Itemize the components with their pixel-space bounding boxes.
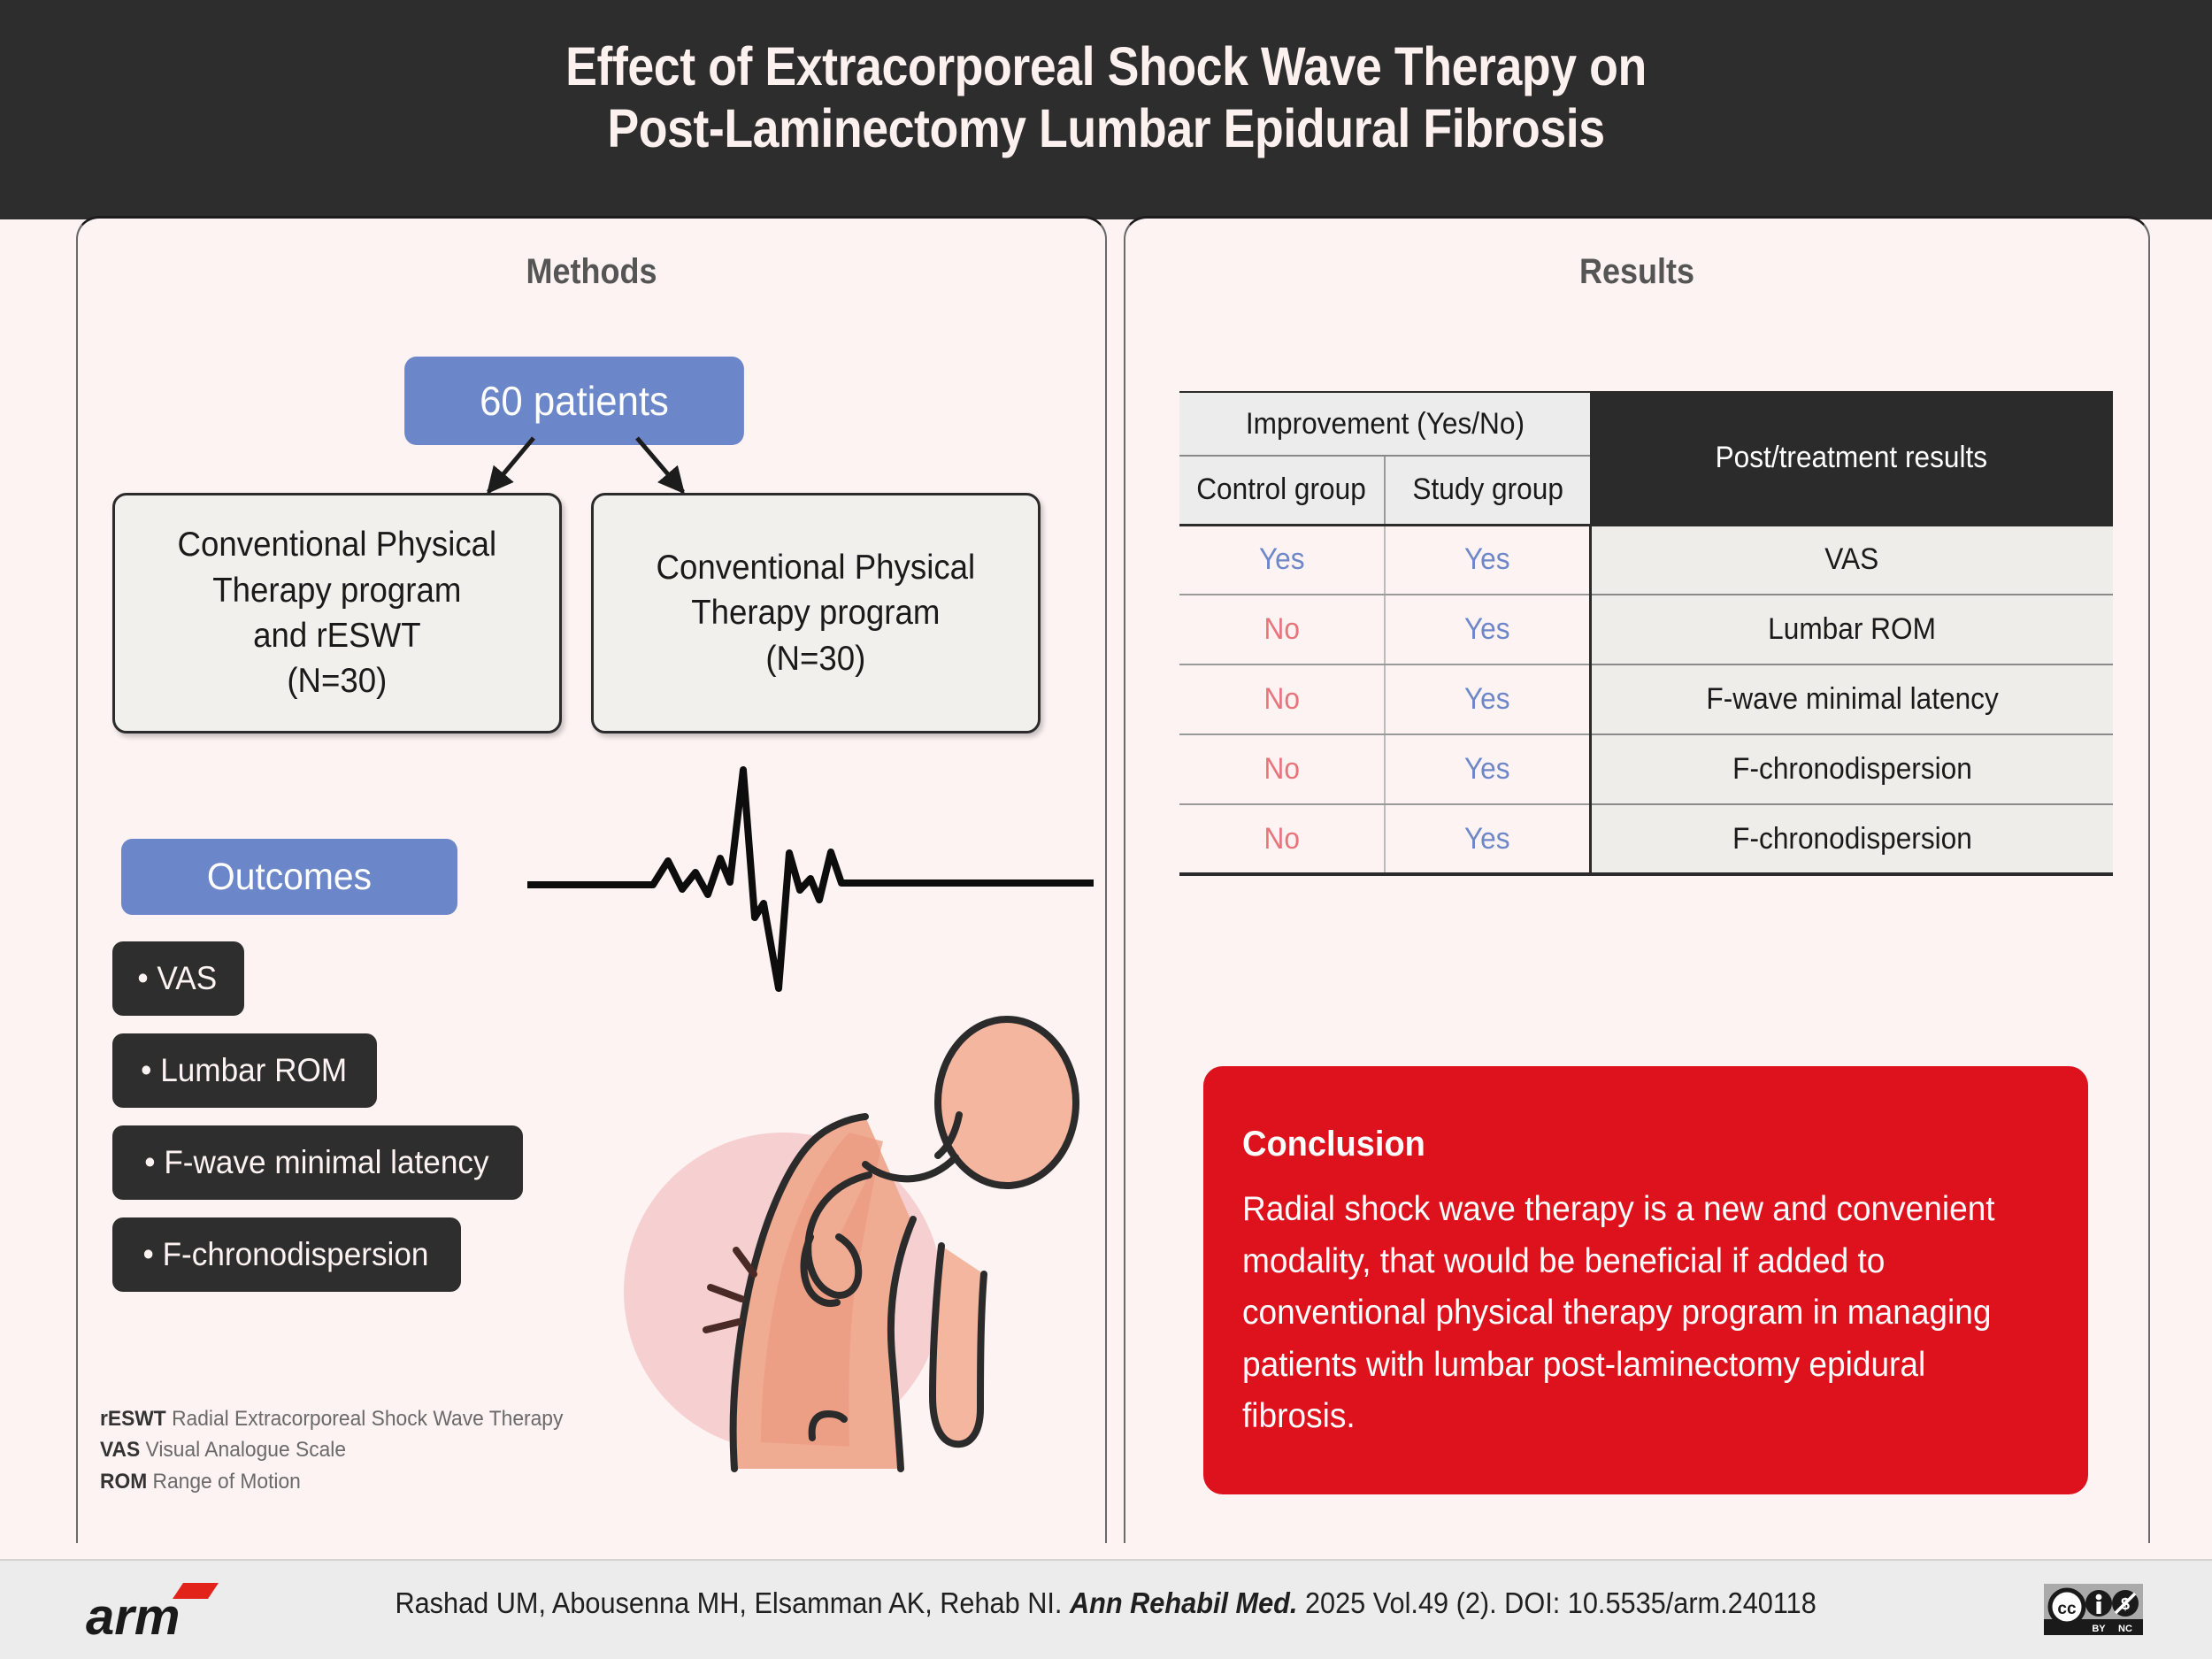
- flow-right-line1: Conventional Physical: [657, 545, 976, 590]
- flow-left-line2: Therapy program: [178, 568, 497, 613]
- flow-node-patients-label: 60 patients: [480, 377, 669, 425]
- outcome-chip-vas: • VAS: [112, 941, 244, 1016]
- outcomes-header: Outcomes: [121, 839, 457, 915]
- cell-label-4: F-chronodispersion: [1590, 804, 2113, 874]
- svg-text:cc: cc: [2057, 1600, 2077, 1618]
- abbr-key-0: rESWT: [100, 1407, 166, 1431]
- svg-text:BY: BY: [2092, 1624, 2106, 1634]
- conclusion-heading: Conclusion: [1242, 1125, 2004, 1164]
- header-control-group: Control group: [1179, 456, 1385, 525]
- flow-node-control-group: Conventional Physical Therapy program (N…: [591, 493, 1041, 733]
- conclusion-box: Conclusion Radial shock wave therapy is …: [1203, 1066, 2088, 1494]
- outcome-chip-vas-label: • VAS: [137, 960, 217, 997]
- outcome-chip-f-chronodispersion-label: • F-chronodispersion: [142, 1236, 428, 1273]
- flow-node-patients: 60 patients: [404, 357, 744, 445]
- cell-control-3: No: [1179, 734, 1385, 804]
- flow-node-study-group: Conventional Physical Therapy program an…: [112, 493, 562, 733]
- conclusion-body: Radial shock wave therapy is a new and c…: [1242, 1184, 2004, 1443]
- title-line-2: Post-Laminectomy Lumbar Epidural Fibrosi…: [133, 97, 2079, 159]
- cell-label-3: F-chronodispersion: [1590, 734, 2113, 804]
- abbr-val-2: Range of Motion: [153, 1470, 301, 1494]
- outcome-chip-lumbar-rom: • Lumbar ROM: [112, 1033, 377, 1108]
- creative-commons-badge-icon: cc BY $ NC: [2044, 1584, 2143, 1635]
- header-post-treatment: Post/treatment results: [1590, 392, 2113, 525]
- abbr-val-0: Radial Extracorporeal Shock Wave Therapy: [172, 1407, 563, 1431]
- header-improvement: Improvement (Yes/No): [1179, 392, 1590, 456]
- flow-left-line3: and rESWT: [178, 613, 497, 658]
- tab-methods-label[interactable]: Methods: [129, 252, 1054, 292]
- citation-rest: 2025 Vol.49 (2). DOI: 10.5535/arm.240118: [1298, 1586, 1816, 1619]
- svg-text:NC: NC: [2118, 1624, 2132, 1634]
- cell-label-2: F-wave minimal latency: [1590, 664, 2113, 734]
- citation-journal: Ann Rehabil Med.: [1070, 1586, 1297, 1619]
- back-pain-person-illustration: [584, 1000, 1150, 1495]
- abbreviations-legend: rESWT Radial Extracorporeal Shock Wave T…: [100, 1403, 588, 1497]
- outcome-chip-f-chronodispersion: • F-chronodispersion: [112, 1217, 461, 1292]
- cell-label-0: VAS: [1590, 525, 2113, 595]
- flow-left-line1: Conventional Physical: [178, 522, 497, 567]
- outcome-chip-f-wave-latency: • F-wave minimal latency: [112, 1125, 523, 1200]
- flow-left-line4: (N=30): [178, 658, 497, 703]
- cell-study-0: Yes: [1385, 525, 1590, 595]
- infographic-root: Effect of Extracorporeal Shock Wave Ther…: [0, 0, 2212, 1659]
- outcome-chip-lumbar-rom-label: • Lumbar ROM: [141, 1052, 347, 1089]
- results-table: Improvement (Yes/No) Post/treatment resu…: [1179, 391, 2113, 876]
- outcomes-header-label: Outcomes: [207, 856, 372, 899]
- shockwave-waveform-icon: [527, 748, 1094, 1022]
- flow-right-line3: (N=30): [657, 636, 976, 681]
- table-row: No Yes F-chronodispersion: [1179, 734, 2113, 804]
- abbr-key-1: VAS: [100, 1438, 140, 1462]
- cell-label-1: Lumbar ROM: [1590, 595, 2113, 664]
- table-row: No Yes Lumbar ROM: [1179, 595, 2113, 664]
- citation-authors: Rashad UM, Abousenna MH, Elsamman AK, Re…: [396, 1586, 1071, 1619]
- header-study-group: Study group: [1385, 456, 1590, 525]
- abbr-val-1: Visual Analogue Scale: [146, 1438, 346, 1462]
- cell-study-2: Yes: [1385, 664, 1590, 734]
- table-header-row-1: Improvement (Yes/No) Post/treatment resu…: [1179, 392, 2113, 456]
- abbr-item-2: ROM Range of Motion: [100, 1466, 563, 1497]
- cell-control-2: No: [1179, 664, 1385, 734]
- table-row: Yes Yes VAS: [1179, 525, 2113, 595]
- abbr-item-1: VAS Visual Analogue Scale: [100, 1434, 563, 1465]
- cell-control-1: No: [1179, 595, 1385, 664]
- cell-control-0: Yes: [1179, 525, 1385, 595]
- cell-study-1: Yes: [1385, 595, 1590, 664]
- abbr-item-0: rESWT Radial Extracorporeal Shock Wave T…: [100, 1403, 563, 1434]
- abbr-key-2: ROM: [100, 1470, 147, 1494]
- tab-results-label[interactable]: Results: [1177, 252, 2097, 292]
- table-row: No Yes F-chronodispersion: [1179, 804, 2113, 874]
- cell-control-4: No: [1179, 804, 1385, 874]
- title-line-1: Effect of Extracorporeal Shock Wave Ther…: [133, 35, 2079, 97]
- citation: Rashad UM, Abousenna MH, Elsamman AK, Re…: [0, 1586, 2212, 1620]
- table-row: No Yes F-wave minimal latency: [1179, 664, 2113, 734]
- cell-study-3: Yes: [1385, 734, 1590, 804]
- cell-study-4: Yes: [1385, 804, 1590, 874]
- flow-right-line2: Therapy program: [657, 590, 976, 635]
- outcome-chip-f-wave-latency-label: • F-wave minimal latency: [144, 1144, 488, 1181]
- page-title: Effect of Extracorporeal Shock Wave Ther…: [133, 35, 2079, 159]
